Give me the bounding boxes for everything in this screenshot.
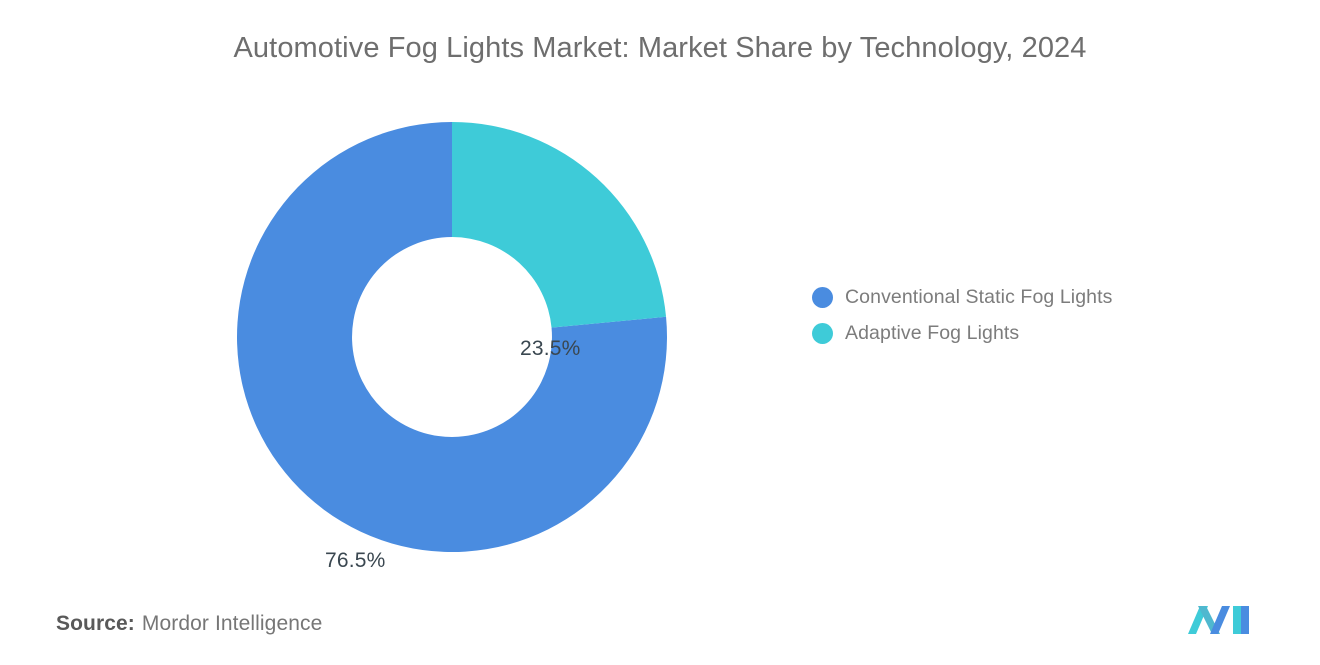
donut-chart-svg: [237, 122, 667, 552]
source-value: Mordor Intelligence: [142, 612, 323, 635]
donut-chart: 23.5% 76.5%: [237, 122, 667, 552]
legend-swatch-icon-adaptive-fog-lights: [812, 323, 833, 344]
legend-label-conventional-static-fog-lights: Conventional Static Fog Lights: [845, 286, 1113, 309]
legend-swatch-icon-conventional-static-fog-lights: [812, 287, 833, 308]
page-title: Automotive Fog Lights Market: Market Sha…: [0, 28, 1320, 68]
legend-label-adaptive-fog-lights: Adaptive Fog Lights: [845, 322, 1019, 345]
chart-legend: Conventional Static Fog Lights Adaptive …: [812, 285, 1113, 345]
data-label-adaptive-fog-lights: 23.5%: [520, 337, 581, 361]
mordor-intelligence-logo-icon: [1186, 600, 1252, 640]
legend-item-adaptive-fog-lights[interactable]: Adaptive Fog Lights: [812, 321, 1113, 345]
donut-slice-adaptive-fog-lights[interactable]: [452, 122, 666, 328]
chart-canvas: Automotive Fog Lights Market: Market Sha…: [0, 0, 1320, 665]
data-label-conventional-static-fog-lights: 76.5%: [325, 549, 386, 573]
legend-item-conventional-static-fog-lights[interactable]: Conventional Static Fog Lights: [812, 285, 1113, 309]
source-label: Source:: [56, 612, 135, 635]
source-line: Source:Mordor Intelligence: [56, 612, 322, 636]
